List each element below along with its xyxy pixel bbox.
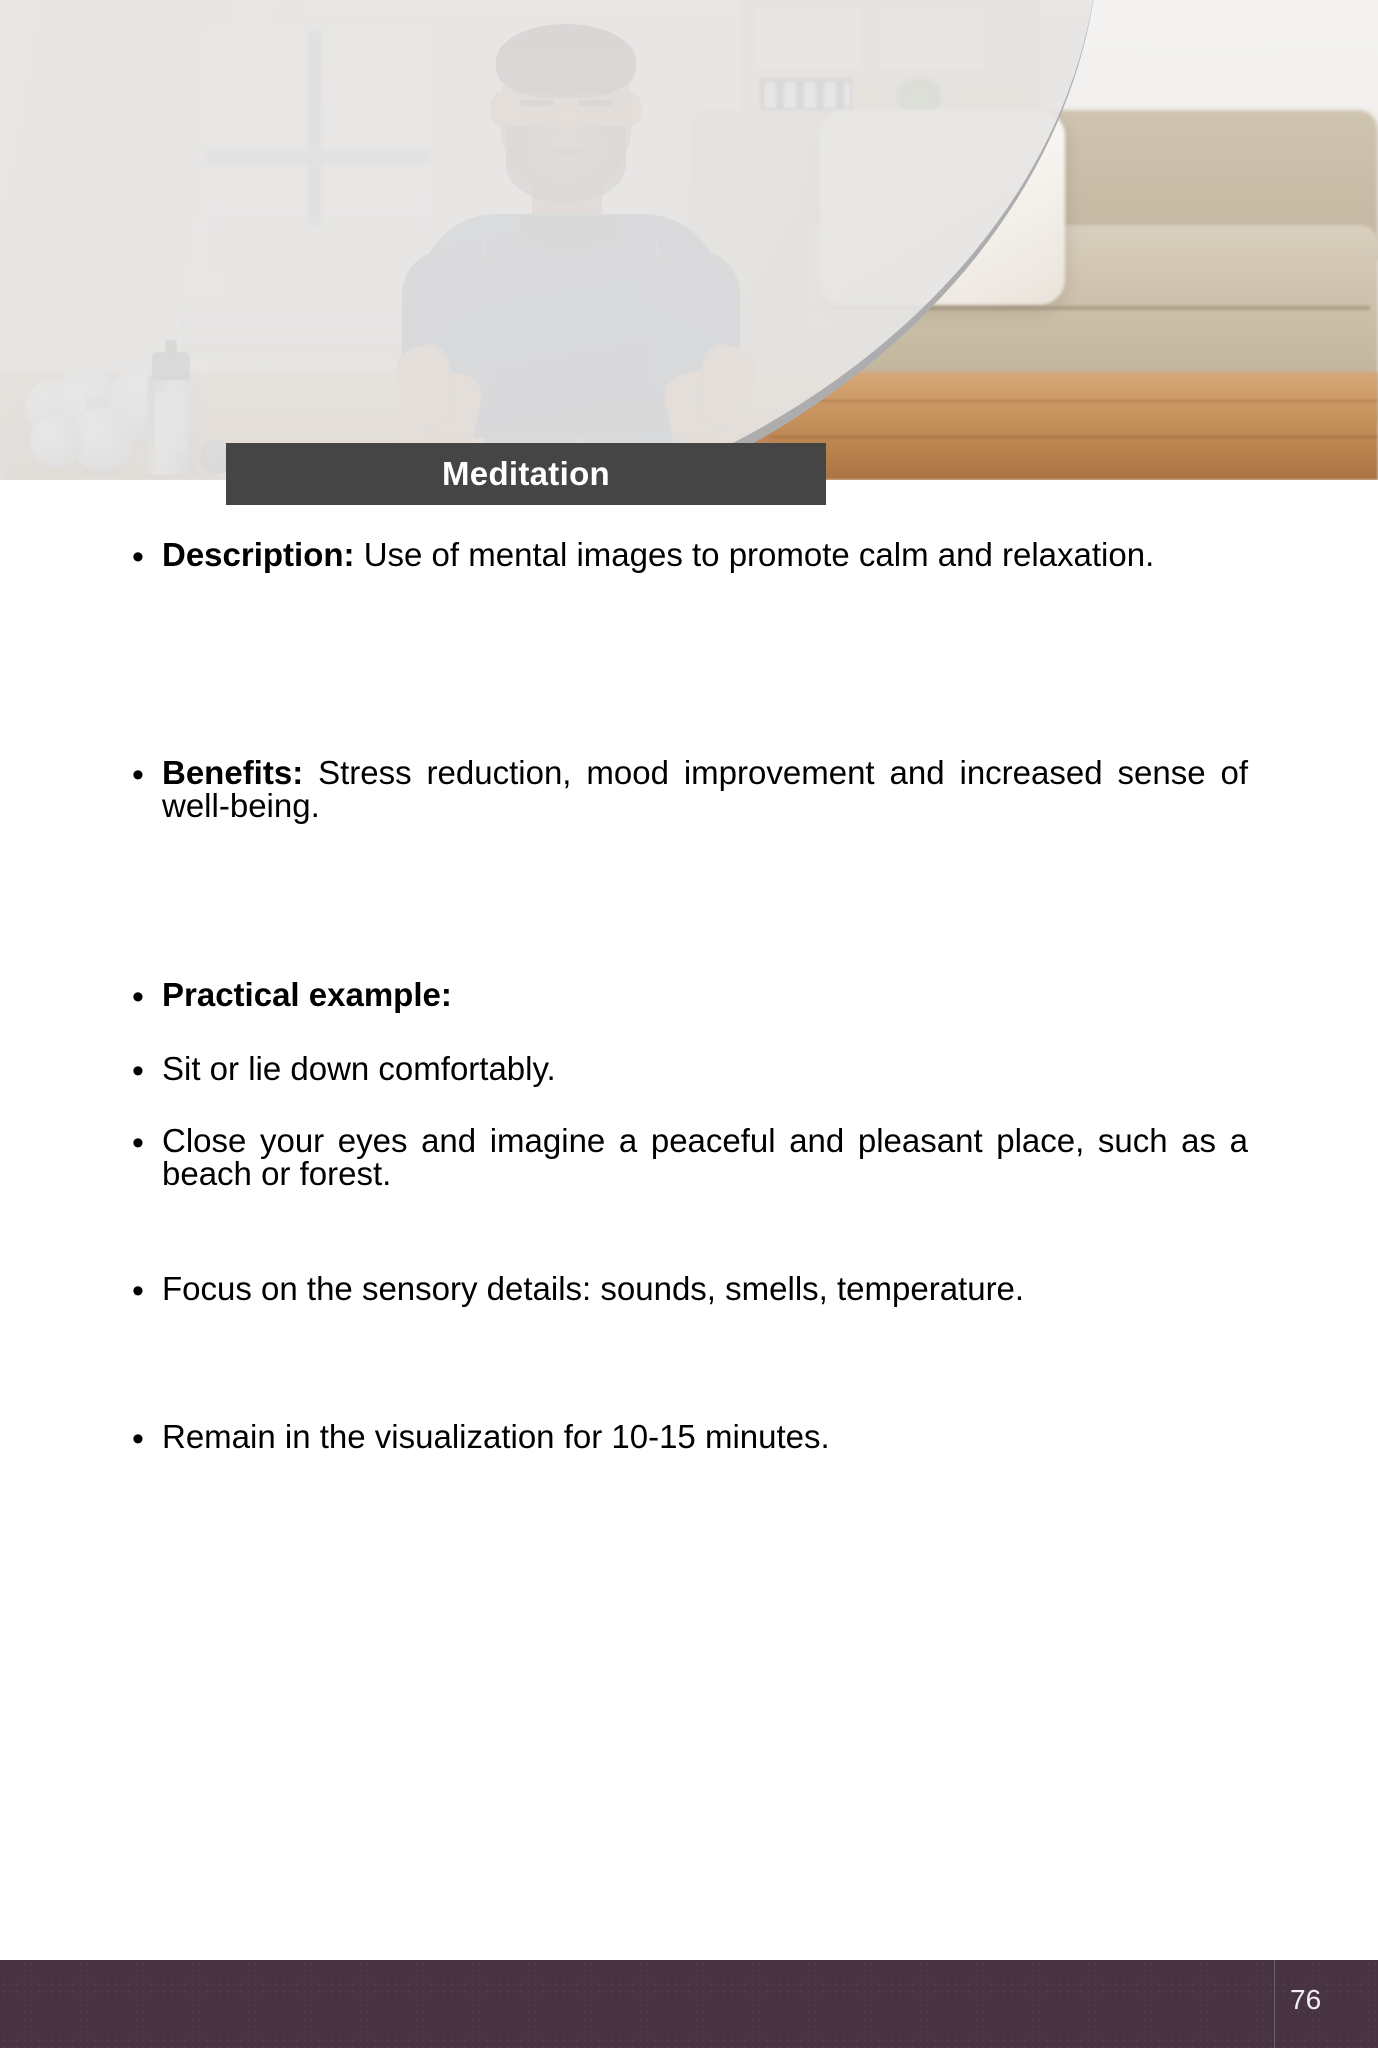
bullet-text: Sit or lie down comfortably. <box>162 1052 1248 1085</box>
slide: Meditation • Description: Use of mental … <box>0 0 1378 2048</box>
bullet-body: Use of mental images to promote calm and… <box>355 536 1155 573</box>
bullet-icon: • <box>132 1052 162 1088</box>
bullet-text: Close your eyes and imagine a peaceful a… <box>162 1124 1248 1190</box>
slide-body: • Description: Use of mental images to p… <box>0 520 1378 1950</box>
bullet-block-step-3: • Focus on the sensory details: sounds, … <box>0 1272 1378 1308</box>
bullet-icon: • <box>132 1124 162 1160</box>
bullet-block-practical-example: • Practical example: <box>0 978 1378 1014</box>
page-title: Meditation <box>442 455 610 493</box>
bullet-icon: • <box>132 1272 162 1308</box>
bullet-block-step-2: • Close your eyes and imagine a peaceful… <box>0 1124 1378 1190</box>
footer-bar: 76 <box>0 1960 1378 2048</box>
bullet-block-benefits: • Benefits: Stress reduction, mood impro… <box>0 756 1378 822</box>
bullet-icon: • <box>132 978 162 1014</box>
bullet-text: Practical example: <box>162 978 1248 1011</box>
bullet-block-description: • Description: Use of mental images to p… <box>0 538 1378 574</box>
footer-divider <box>1274 1960 1275 2048</box>
bullet-block-step-1: • Sit or lie down comfortably. <box>0 1052 1378 1088</box>
bullet-block-step-4: • Remain in the visualization for 10-15 … <box>0 1420 1378 1456</box>
bullet-text: Benefits: Stress reduction, mood improve… <box>162 756 1248 822</box>
bullet-icon: • <box>132 538 162 574</box>
bullet-label: Benefits: <box>162 754 303 791</box>
page-number: 76 <box>1290 1984 1321 2016</box>
bullet-icon: • <box>132 1420 162 1456</box>
slide-title-band: Meditation <box>226 443 826 505</box>
bullet-body: Stress reduction, mood improvement and i… <box>162 754 1248 824</box>
bullet-text: Description: Use of mental images to pro… <box>162 538 1248 571</box>
hero-image <box>0 0 1378 480</box>
bullet-icon: • <box>132 756 162 792</box>
bullet-text: Remain in the visualization for 10-15 mi… <box>162 1420 1248 1453</box>
bullet-label: Practical example: <box>162 976 452 1013</box>
bullet-text: Focus on the sensory details: sounds, sm… <box>162 1272 1248 1305</box>
bullet-label: Description: <box>162 536 355 573</box>
